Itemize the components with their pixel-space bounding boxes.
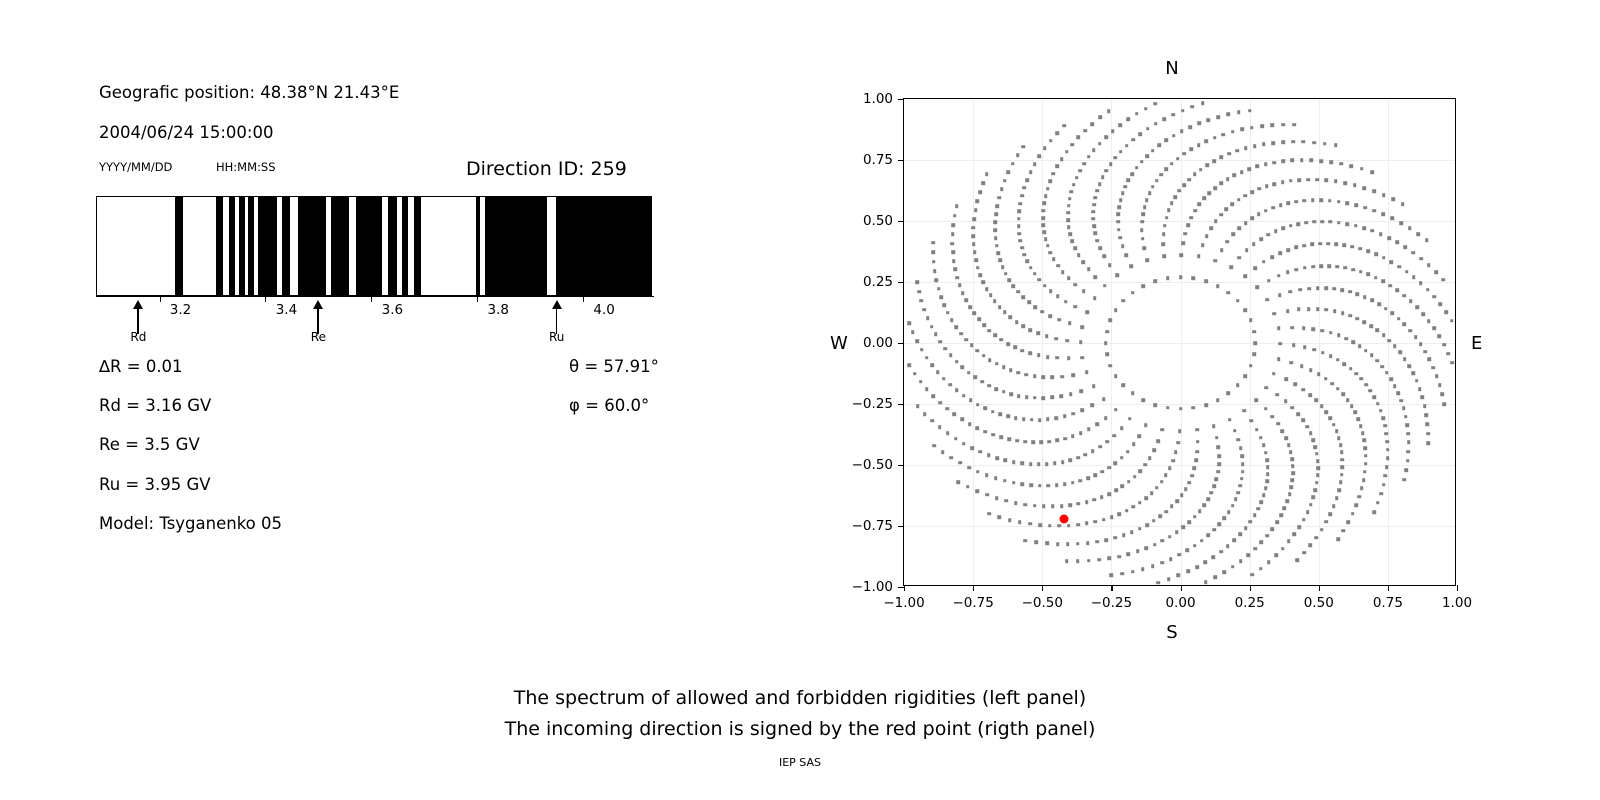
scatter-point xyxy=(1127,179,1131,183)
scatter-point xyxy=(1264,451,1268,455)
scatter-point xyxy=(1159,173,1163,177)
scatter-point xyxy=(1393,384,1397,388)
scatter-point xyxy=(1281,226,1285,230)
scatter-point xyxy=(1260,124,1264,128)
scatter-point xyxy=(1020,246,1024,250)
scatter-point xyxy=(1291,471,1295,475)
scatter-point xyxy=(1294,200,1298,204)
scatter-point xyxy=(1339,443,1343,447)
scatter-point xyxy=(1196,440,1200,444)
scatter-point xyxy=(1148,456,1152,460)
scatter-point xyxy=(1114,489,1118,493)
scatter-point xyxy=(1127,552,1131,556)
left-panel: Geografic position: 48.38°N 21.43°E 2004… xyxy=(0,0,760,620)
spectrum-tick xyxy=(265,296,266,302)
scatter-point xyxy=(1402,407,1406,411)
scatter-point xyxy=(1033,162,1037,166)
scatter-point xyxy=(1309,432,1313,436)
scatter-point xyxy=(1292,123,1296,127)
scatter-point xyxy=(1271,415,1275,419)
scatter-point xyxy=(962,394,966,398)
scatter-point xyxy=(937,287,941,291)
scatter-point xyxy=(1240,170,1244,174)
scatter-point xyxy=(1296,412,1300,416)
x-axis-tick-label: −1.00 xyxy=(883,595,924,611)
scatter-point xyxy=(1237,438,1241,442)
scatter-point xyxy=(1389,284,1393,288)
scatter-point xyxy=(1180,253,1184,257)
scatter-point xyxy=(1328,199,1332,203)
scatter-point xyxy=(981,181,985,185)
scatter-point xyxy=(968,422,972,426)
scatter-point xyxy=(1281,180,1285,184)
scatter-point xyxy=(1174,451,1178,455)
scatter-point xyxy=(1057,318,1061,322)
scatter-point xyxy=(1131,392,1135,396)
scatter-point xyxy=(1424,413,1428,417)
scatter-point xyxy=(1341,465,1345,469)
scatter-point xyxy=(1207,118,1211,122)
scatter-point xyxy=(1101,175,1105,179)
scatter-point xyxy=(998,305,1002,309)
scatter-point xyxy=(1162,243,1166,247)
scatter-point xyxy=(991,410,995,414)
y-axis-tick-label: 0.25 xyxy=(863,274,893,290)
scatter-point xyxy=(994,212,998,216)
scatter-point xyxy=(1384,307,1388,311)
scatter-point xyxy=(1111,129,1115,133)
scatter-point xyxy=(1257,187,1261,191)
scatter-point xyxy=(1055,131,1059,135)
scatter-point xyxy=(1374,253,1378,257)
scatter-point xyxy=(1409,299,1413,303)
scatter-point xyxy=(1153,279,1157,283)
scatter-point xyxy=(1253,514,1257,518)
scatter-point xyxy=(1379,232,1383,236)
scatter-point xyxy=(985,172,989,176)
gridline-horizontal xyxy=(904,404,1455,405)
scatter-point xyxy=(1274,554,1278,558)
scatter-point xyxy=(998,412,1002,416)
scatter-point xyxy=(1217,454,1221,458)
scatter-point xyxy=(988,358,992,362)
scatter-point xyxy=(1107,492,1111,496)
scatter-point xyxy=(1370,299,1374,303)
scatter-point xyxy=(1025,260,1029,264)
scatter-point xyxy=(1076,136,1080,140)
spectrum-tick-label: 3.8 xyxy=(488,302,509,318)
scatter-point xyxy=(1007,170,1011,174)
x-axis-tick-label: −0.50 xyxy=(1022,595,1063,611)
scatter-point xyxy=(1446,352,1450,356)
scatter-point xyxy=(1114,461,1118,465)
scatter-point xyxy=(968,305,972,309)
scatter-point xyxy=(1316,307,1320,311)
scatter-point xyxy=(1362,439,1366,443)
scatter-point xyxy=(1391,197,1395,201)
scatter-point xyxy=(1195,428,1199,432)
scatter-point xyxy=(1303,199,1307,203)
scatter-point xyxy=(925,356,929,360)
scatter-point xyxy=(1264,209,1268,213)
x-axis-tick-label: −0.25 xyxy=(1091,595,1132,611)
scatter-point xyxy=(955,204,959,208)
scatter-point xyxy=(995,496,999,500)
scatter-point xyxy=(919,380,923,384)
scatter-point xyxy=(1359,424,1363,428)
scatter-point xyxy=(1396,289,1400,293)
scatter-point xyxy=(1109,319,1113,323)
scatter-point xyxy=(1022,417,1026,421)
scatter-point xyxy=(1371,229,1375,233)
scatter-point xyxy=(1293,532,1297,536)
scatter-point xyxy=(1077,502,1081,506)
scatter-point xyxy=(1406,459,1410,463)
scatter-point xyxy=(1056,264,1060,268)
scatter-point xyxy=(1212,424,1216,428)
scatter-point xyxy=(1289,450,1293,454)
scatter-point xyxy=(972,217,976,221)
scatter-point xyxy=(1152,519,1156,523)
scatter-point xyxy=(1075,176,1079,180)
scatter-point xyxy=(1329,512,1333,516)
y-axis-tick-label: −1.00 xyxy=(852,579,893,595)
scatter-point xyxy=(1060,504,1064,508)
scatter-point xyxy=(1087,559,1091,563)
scatter-point xyxy=(1403,478,1407,482)
scatter-point xyxy=(1064,300,1068,304)
scatter-point xyxy=(1281,140,1285,144)
scatter-point xyxy=(1363,206,1367,210)
scatter-point xyxy=(1061,270,1065,274)
scatter-point xyxy=(1049,139,1053,143)
scatter-point xyxy=(1041,310,1045,314)
scatter-point xyxy=(1122,384,1126,388)
scatter-point xyxy=(1045,542,1049,546)
scatter-point xyxy=(1105,353,1109,357)
scatter-point xyxy=(1260,541,1264,545)
scatter-point xyxy=(1037,463,1041,467)
scatter-point xyxy=(993,300,997,304)
scatter-point xyxy=(1408,226,1412,230)
scatter-point xyxy=(1006,415,1010,419)
scatter-point xyxy=(1243,194,1247,198)
scatter-point xyxy=(1006,342,1010,346)
scatter-point xyxy=(1226,240,1230,244)
scatter-point xyxy=(1215,477,1219,481)
scatter-point xyxy=(911,331,915,335)
scatter-point xyxy=(1079,431,1083,435)
scatter-point xyxy=(1306,510,1310,514)
scatter-point xyxy=(1332,287,1336,291)
scatter-point xyxy=(1349,367,1353,371)
scatter-point xyxy=(1395,241,1399,245)
scatter-point xyxy=(1325,410,1329,414)
scatter-point xyxy=(1204,560,1208,564)
scatter-point xyxy=(1241,470,1245,474)
scatter-point xyxy=(1021,349,1025,353)
scatter-point xyxy=(1356,317,1360,321)
scatter-point xyxy=(1067,524,1071,528)
scatter-point xyxy=(1197,122,1201,126)
scatter-point xyxy=(1276,422,1280,426)
scatter-point xyxy=(1047,440,1051,444)
scatter-point xyxy=(939,340,943,344)
scatter-point xyxy=(1278,251,1282,255)
scatter-point xyxy=(1184,487,1188,491)
scatter-point xyxy=(1038,154,1042,158)
scatter-point xyxy=(1182,152,1186,156)
scatter-point xyxy=(1319,264,1323,268)
scatter-point xyxy=(974,208,978,212)
scatter-point xyxy=(1272,372,1276,376)
scatter-point xyxy=(1259,567,1263,571)
scatter-point xyxy=(1343,362,1347,366)
scatter-point xyxy=(1033,396,1037,400)
scatter-point xyxy=(1218,522,1222,526)
scatter-point xyxy=(1278,342,1282,346)
scatter-point xyxy=(1428,358,1432,362)
scatter-point xyxy=(1017,371,1021,375)
scatter-point xyxy=(1071,434,1075,438)
scatter-point xyxy=(1390,312,1394,316)
scatter-point xyxy=(1264,162,1268,166)
scatter-point xyxy=(1367,273,1371,277)
scatter-point xyxy=(1031,440,1035,444)
scatter-point xyxy=(1176,441,1180,445)
scatter-point xyxy=(1023,186,1027,190)
x-axis-tick-label: 0.00 xyxy=(1165,595,1195,611)
scatter-point xyxy=(1265,298,1269,302)
scatter-point xyxy=(1035,541,1039,545)
date-format-hint: YYYY/MM/DD xyxy=(99,160,172,174)
scatter-point xyxy=(1105,538,1109,542)
scatter-point xyxy=(952,259,956,263)
scatter-point xyxy=(1216,115,1220,119)
scatter-point xyxy=(1433,327,1437,331)
scatter-point xyxy=(983,430,987,434)
scatter-point xyxy=(1237,110,1241,114)
scatter-point xyxy=(1156,581,1160,585)
scatter-point xyxy=(1076,456,1080,460)
gridline-horizontal xyxy=(904,343,1455,344)
compass-east-label: E xyxy=(1471,333,1482,354)
scatter-point xyxy=(1131,570,1135,574)
scatter-point xyxy=(1181,241,1185,245)
rigidity-spectrum-chart xyxy=(96,196,652,296)
scatter-point xyxy=(1063,437,1067,441)
scatter-point xyxy=(1029,170,1033,174)
scatter-point xyxy=(978,450,982,454)
scatter-point xyxy=(1272,161,1276,165)
scatter-point xyxy=(1256,285,1260,289)
scatter-point xyxy=(1220,155,1224,159)
scatter-point xyxy=(934,333,938,337)
scatter-point xyxy=(1144,496,1148,500)
scatter-point xyxy=(1071,481,1075,485)
scatter-point xyxy=(1364,454,1368,458)
scatter-point xyxy=(959,332,963,336)
scatter-point xyxy=(1080,356,1084,360)
scatter-point xyxy=(1154,122,1158,126)
scatter-point xyxy=(970,446,974,450)
scatter-point xyxy=(1286,248,1290,252)
scatter-point xyxy=(1190,216,1194,220)
forbidden-band xyxy=(248,197,254,295)
scatter-point xyxy=(1222,570,1226,574)
scatter-point xyxy=(1162,254,1166,258)
scatter-point xyxy=(1154,102,1158,106)
scatter-point xyxy=(1231,202,1235,206)
scatter-point xyxy=(1087,427,1091,431)
scatter-point xyxy=(1117,512,1121,516)
scatter-point xyxy=(950,318,954,322)
selected-direction-point[interactable] xyxy=(1060,514,1069,523)
scatter-point xyxy=(1281,429,1285,433)
scatter-point xyxy=(1345,222,1349,226)
scatter-point xyxy=(1078,169,1082,173)
scatter-point xyxy=(1192,276,1196,280)
compass-north-label: N xyxy=(1165,58,1178,79)
scatter-point xyxy=(943,303,947,307)
scatter-point xyxy=(1320,528,1324,532)
scatter-point xyxy=(1074,283,1078,287)
scatter-point xyxy=(1066,339,1070,343)
scatter-point xyxy=(1405,423,1409,427)
scatter-point xyxy=(1037,354,1041,358)
scatter-point xyxy=(1028,351,1032,355)
scatter-point xyxy=(1301,419,1305,423)
scatter-point xyxy=(1319,198,1323,202)
scatter-point xyxy=(1188,125,1192,129)
scatter-point xyxy=(913,372,917,376)
scatter-point xyxy=(1294,246,1298,250)
scatter-point xyxy=(1244,221,1248,225)
scatter-point xyxy=(1103,284,1107,288)
scatter-point xyxy=(1255,398,1259,402)
scatter-point xyxy=(1342,529,1346,533)
scatter-point xyxy=(1336,537,1340,541)
scatter-point xyxy=(930,419,934,423)
scatter-point xyxy=(1227,392,1231,396)
scatter-point xyxy=(978,190,982,194)
scatter-point xyxy=(1027,301,1031,305)
scatter-point xyxy=(987,384,991,388)
scatter-point xyxy=(1108,263,1112,267)
scatter-point xyxy=(949,354,953,358)
scatter-point xyxy=(1194,458,1198,462)
scatter-point xyxy=(938,401,942,405)
scatter-point xyxy=(1081,260,1085,264)
scatter-point xyxy=(1315,452,1319,456)
scatter-point xyxy=(1369,389,1373,393)
scatter-point xyxy=(1179,275,1183,279)
scatter-point xyxy=(987,512,991,516)
scatter-point xyxy=(1284,377,1288,381)
scatter-point xyxy=(1310,243,1314,247)
scatter-point xyxy=(1049,251,1053,255)
scatter-point xyxy=(1220,248,1224,252)
scatter-point xyxy=(1402,294,1406,298)
scatter-point xyxy=(961,366,965,370)
scatter-point xyxy=(1294,383,1298,387)
scatter-point xyxy=(1199,168,1203,172)
scatter-point xyxy=(1068,322,1072,326)
scatter-point xyxy=(1056,295,1060,299)
scatter-point xyxy=(1141,398,1145,402)
scatter-point xyxy=(1385,465,1389,469)
scatter-point xyxy=(1119,150,1123,154)
y-axis-tick-label: 0.00 xyxy=(863,335,893,351)
scatter-point xyxy=(1198,202,1202,206)
scatter-point xyxy=(1138,527,1142,531)
scatter-point xyxy=(1055,483,1059,487)
scatter-point xyxy=(1015,320,1019,324)
scatter-point xyxy=(1403,323,1407,327)
scatter-point xyxy=(1117,213,1121,217)
scatter-point xyxy=(1262,443,1266,447)
scatter-point xyxy=(971,234,975,238)
scatter-point xyxy=(967,371,971,375)
scatter-point xyxy=(1290,159,1294,163)
scatter-point xyxy=(1350,245,1354,249)
scatter-point xyxy=(1172,134,1176,138)
scatter-point xyxy=(1384,474,1388,478)
scatter-point xyxy=(1092,224,1096,228)
scatter-point xyxy=(981,280,985,284)
compass-west-label: W xyxy=(830,333,848,354)
scatter-point xyxy=(942,377,946,381)
scatter-point xyxy=(1052,257,1056,261)
scatter-point xyxy=(958,284,962,288)
scatter-point xyxy=(1246,553,1250,557)
spectrum-bar xyxy=(96,196,652,296)
scatter-point xyxy=(1334,180,1338,184)
scatter-point xyxy=(1249,364,1253,368)
scatter-point xyxy=(953,413,957,417)
scatter-point xyxy=(1267,279,1271,283)
scatter-point xyxy=(1160,480,1164,484)
y-axis-tick-label: 0.50 xyxy=(863,213,893,229)
scatter-point xyxy=(1291,406,1295,410)
scatter-point xyxy=(1351,268,1355,272)
scatter-point xyxy=(955,389,959,393)
scatter-point xyxy=(1069,392,1073,396)
scatter-point xyxy=(1082,289,1086,293)
scatter-point xyxy=(976,349,980,353)
scatter-point xyxy=(956,480,960,484)
spectrum-tick xyxy=(477,296,478,302)
scatter-point xyxy=(962,442,966,446)
scatter-point xyxy=(1012,284,1016,288)
scatter-point xyxy=(1300,364,1304,368)
scatter-point xyxy=(1405,468,1409,472)
scatter-point xyxy=(1109,162,1113,166)
scatter-point xyxy=(1309,158,1313,162)
x-axis-tick xyxy=(904,585,905,591)
spectrum-tick-label: 4.0 xyxy=(593,302,614,318)
scatter-point xyxy=(1358,344,1362,348)
scatter-point xyxy=(1219,213,1223,217)
scatter-point xyxy=(1205,234,1209,238)
scatter-point xyxy=(1311,265,1315,269)
scatter-point xyxy=(915,339,919,343)
scatter-point xyxy=(1316,286,1320,290)
scatter-point xyxy=(1041,396,1045,400)
scatter-point xyxy=(1138,501,1142,505)
scatter-point xyxy=(1204,403,1208,407)
scatter-point xyxy=(1231,565,1235,569)
